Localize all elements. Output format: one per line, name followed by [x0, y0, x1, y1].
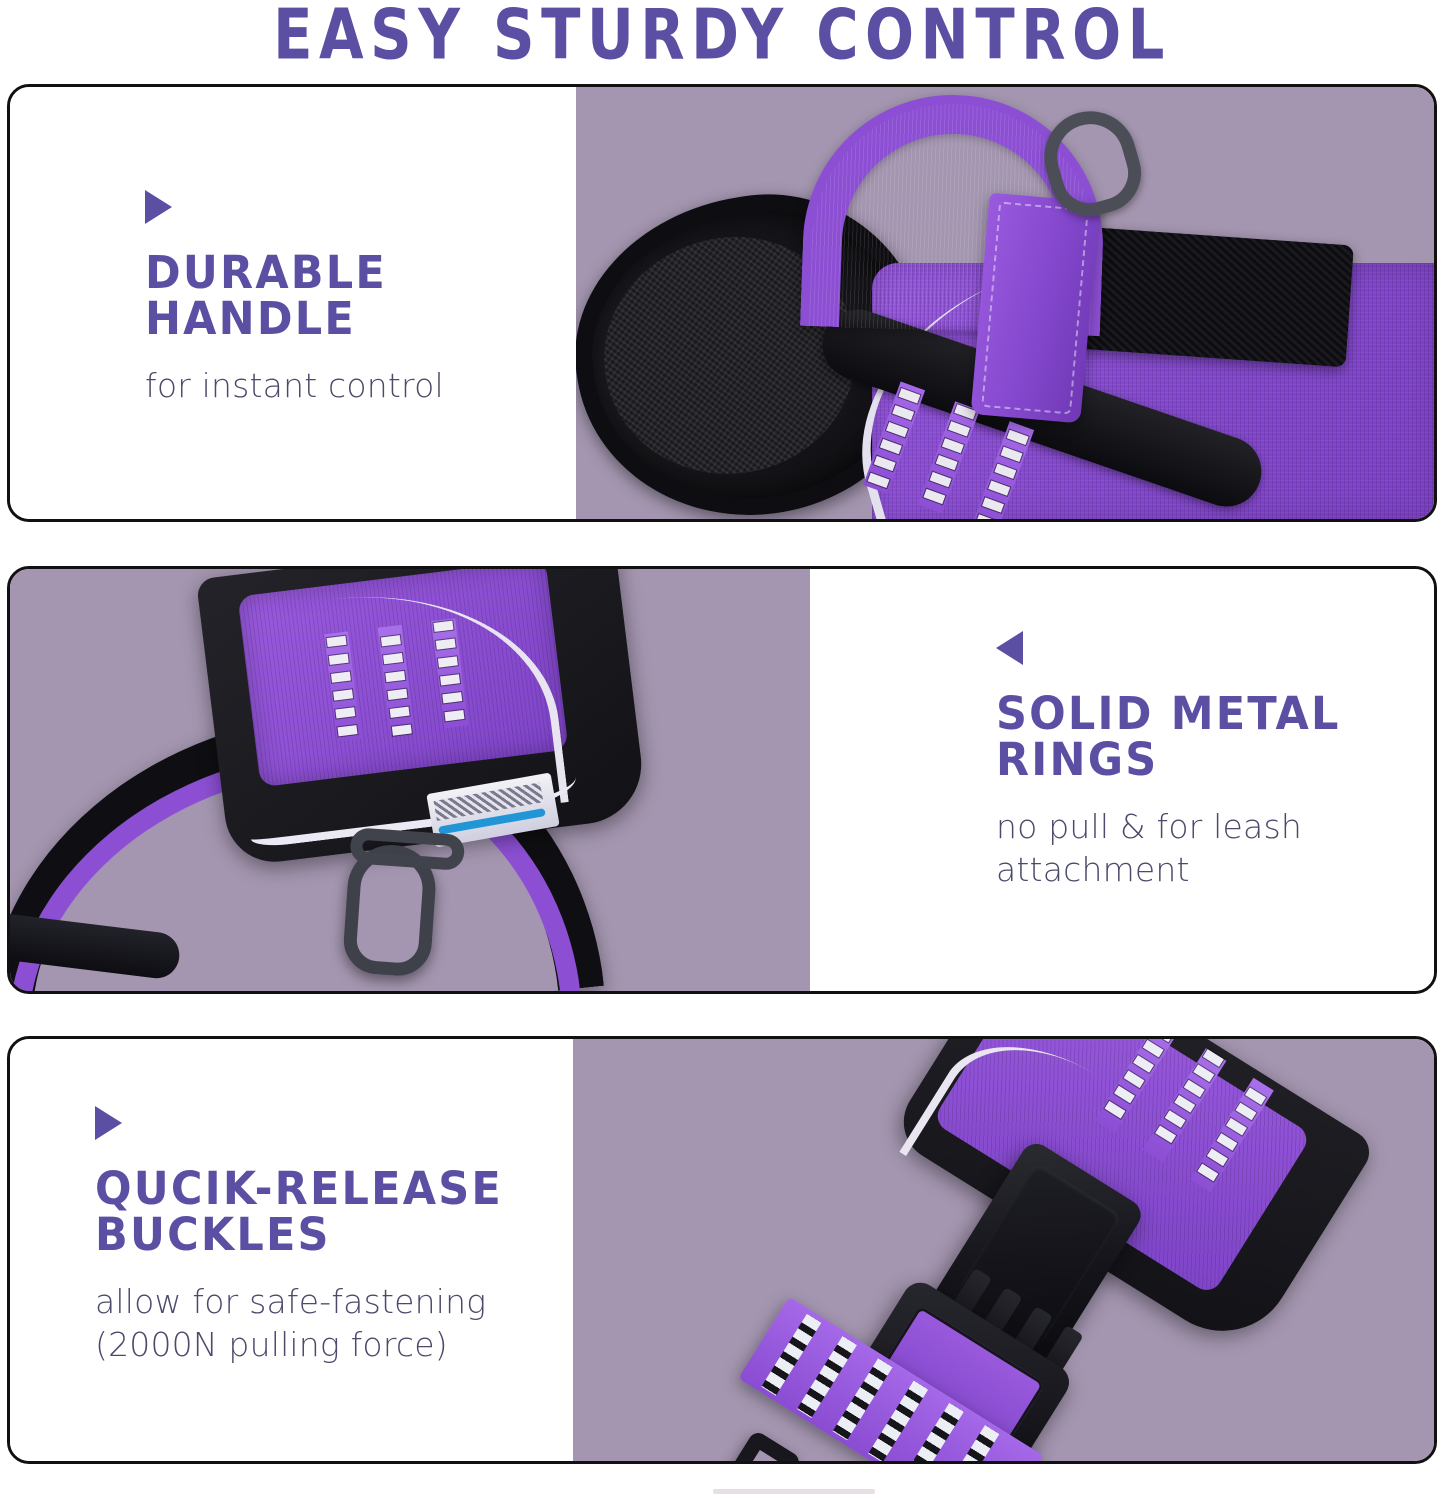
triangle-right-icon — [95, 1106, 122, 1140]
bottom-edge-sliver — [713, 1489, 875, 1494]
feature-panel-solid-metal-rings: SOLID METAL RINGS no pull & for leash at… — [7, 566, 1437, 994]
product-photo-solid-metal-rings — [10, 569, 810, 991]
triangle-left-icon — [996, 631, 1023, 665]
page-title: EASY STURDY CONTROL — [51, 0, 1394, 72]
panel-text-area: QUCIK-RELEASE BUCKLES allow for safe-fas… — [10, 1039, 573, 1461]
feature-title: SOLID METAL RINGS — [996, 691, 1341, 783]
product-photo-quick-release-buckles — [573, 1039, 1434, 1461]
metal-leash-ring-icon — [342, 842, 439, 978]
feature-subtitle: for instant control — [145, 364, 444, 407]
feature-subtitle: allow for safe-fastening (2000N pulling … — [95, 1280, 503, 1366]
panel-text-area: DURABLE HANDLE for instant control — [10, 87, 576, 519]
feature-panel-durable-handle: DURABLE HANDLE for instant control — [7, 84, 1437, 522]
feature-subtitle: no pull & for leash attachment — [996, 805, 1341, 891]
feature-title: QUCIK-RELEASE BUCKLES — [95, 1166, 503, 1258]
feature-panel-quick-release-buckles: QUCIK-RELEASE BUCKLES allow for safe-fas… — [7, 1036, 1437, 1464]
panel-text-area: SOLID METAL RINGS no pull & for leash at… — [810, 569, 1434, 991]
product-photo-durable-handle — [576, 87, 1434, 519]
triangle-right-icon — [145, 190, 172, 224]
harness-handle-tab — [971, 193, 1100, 424]
infographic-page: EASY STURDY CONTROL DURABLE HANDLE for i… — [0, 0, 1444, 1500]
strap-slider-loop — [691, 1429, 802, 1461]
feature-title: DURABLE HANDLE — [145, 250, 444, 342]
